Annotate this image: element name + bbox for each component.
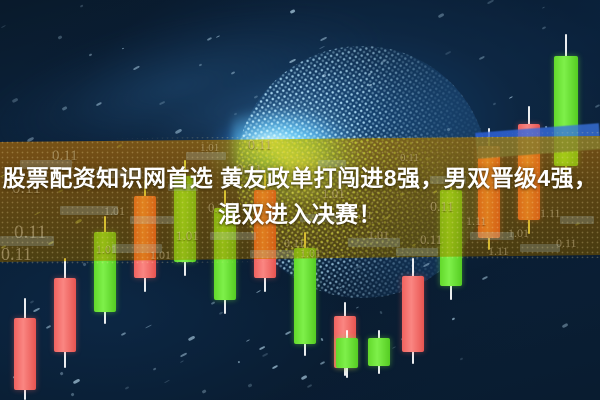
banner-image: 0.110.110.111.011.010.211.010.110.210.11… [0,0,600,400]
candlestick-body [14,318,36,390]
candlestick-body [54,278,76,352]
candlestick-body [294,248,316,344]
candlestick-body [402,276,424,352]
candlestick-body [368,338,390,366]
candlestick-body [336,338,358,368]
headline-text: 股票配资知识网首选 黄友政单打闯进8强，男双晋级4强，混双进入决赛！ [0,160,600,232]
